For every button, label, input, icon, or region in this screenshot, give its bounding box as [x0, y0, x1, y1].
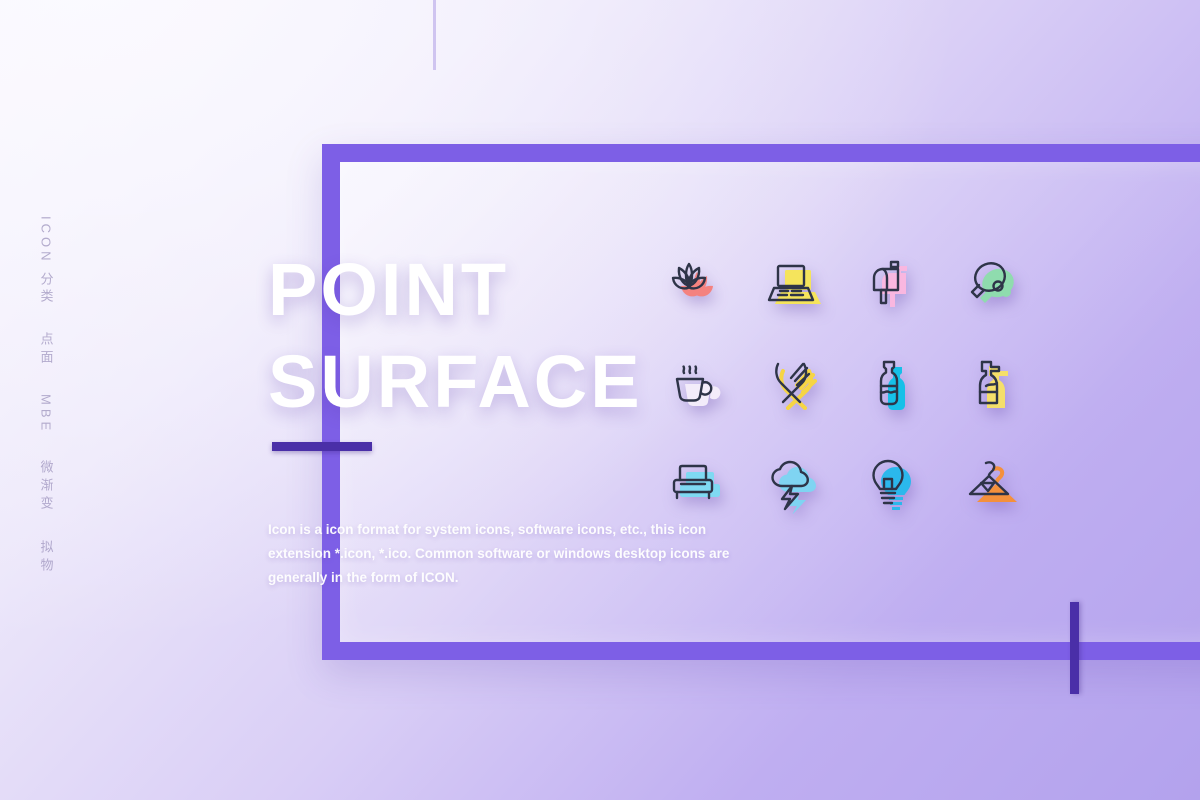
icon-cell-armchair[interactable]: [648, 436, 746, 535]
spray-bottle-icon: [963, 359, 1019, 415]
armchair-icon: [669, 458, 725, 514]
ping-pong-paddle-icon: [963, 260, 1019, 316]
water-bottle-icon: [865, 359, 921, 415]
icon-cell-spray-bottle[interactable]: [942, 337, 1040, 436]
top-accent-line: [433, 0, 436, 70]
icon-cell-ping-pong-paddle[interactable]: [942, 238, 1040, 337]
accent-bar-vertical: [1070, 602, 1079, 694]
coffee-cup-icon: [669, 359, 725, 415]
icon-cell-lotus[interactable]: [648, 238, 746, 337]
page-title-line-2: SURFACE: [268, 336, 643, 428]
icon-cell-laptop[interactable]: [746, 238, 844, 337]
thunderstorm-icon: [767, 458, 823, 514]
icon-cell-thunderstorm[interactable]: [746, 436, 844, 535]
icon-cell-mailbox[interactable]: [844, 238, 942, 337]
icon-cell-coffee-cup[interactable]: [648, 337, 746, 436]
side-menu-item-point-surface[interactable]: 点面: [40, 332, 53, 368]
laptop-icon: [767, 260, 823, 316]
side-menu-item-skeuomorph[interactable]: 拟物: [40, 540, 53, 576]
lotus-flower-icon: [669, 260, 725, 316]
accent-bar-horizontal: [272, 442, 372, 451]
mailbox-icon: [865, 260, 921, 316]
side-menu: ICON 分类 点面 MBE 微渐变 拟物: [28, 216, 64, 602]
side-menu-item-mbe[interactable]: MBE: [40, 394, 53, 434]
fork-knife-icon: [767, 359, 823, 415]
side-menu-item-micro-gradient[interactable]: 微渐变: [40, 460, 53, 514]
icon-cell-fork-knife[interactable]: [746, 337, 844, 436]
icon-grid: [648, 238, 1040, 535]
side-menu-item-icon-category[interactable]: ICON 分类: [40, 216, 53, 306]
light-bulb-icon: [865, 458, 921, 514]
icon-cell-light-bulb[interactable]: [844, 436, 942, 535]
clothes-hanger-icon: [963, 458, 1019, 514]
page-title: POINT SURFACE: [268, 244, 643, 428]
icon-cell-clothes-hanger[interactable]: [942, 436, 1040, 535]
page-title-line-1: POINT: [268, 248, 509, 331]
icon-cell-water-bottle[interactable]: [844, 337, 942, 436]
poster-canvas: ICON 分类 点面 MBE 微渐变 拟物 POINT SURFACE Icon…: [0, 0, 1200, 800]
